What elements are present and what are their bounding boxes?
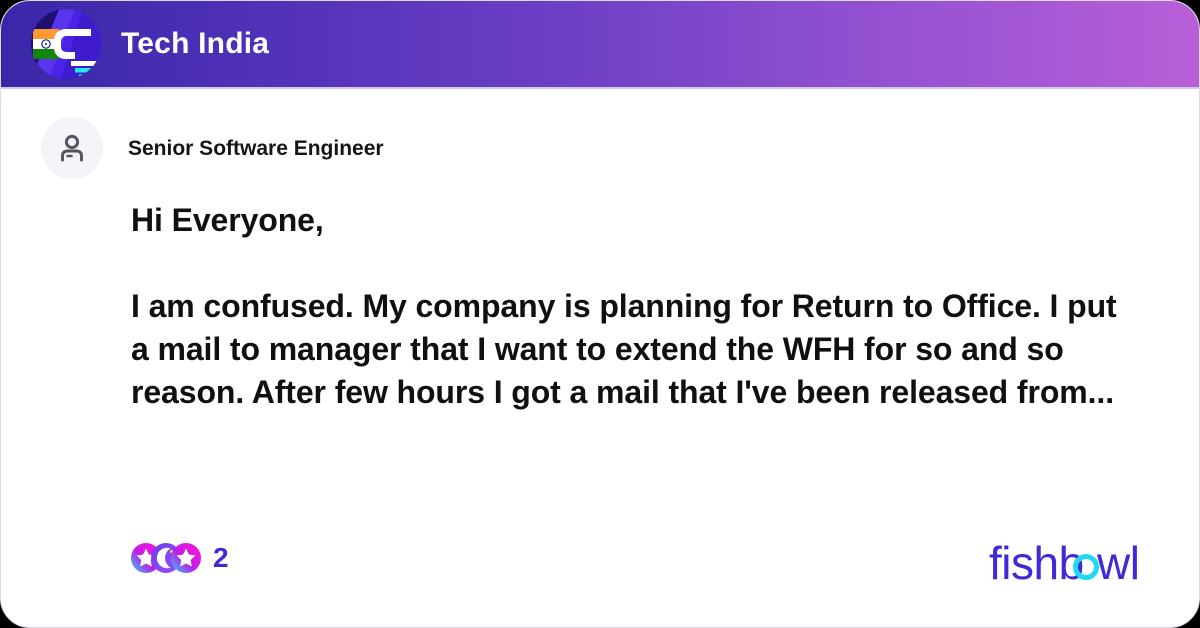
fishbowl-post-card[interactable]: Tech India Senior Software Engineer: [0, 0, 1200, 628]
post-text-greeting: Hi Everyone,: [131, 199, 1143, 242]
screenshot-root: Tech India Senior Software Engineer: [0, 0, 1200, 628]
svg-text:wl: wl: [1096, 537, 1139, 589]
star-reaction-icon[interactable]: [171, 543, 201, 573]
post-text: Hi Everyone, I am confused. My company i…: [131, 199, 1143, 414]
reactions-group[interactable]: 2: [131, 543, 229, 573]
reaction-count: 2: [213, 544, 229, 572]
fishbowl-logo[interactable]: fishbowl fishb wl: [989, 537, 1139, 593]
author-job-title: Senior Software Engineer: [128, 138, 384, 159]
post-text-line-3: reason. After few hours I got a mail tha…: [131, 371, 1143, 414]
post-text-line-1: I am confused. My company is planning fo…: [131, 285, 1143, 328]
post-body-region: Senior Software Engineer Hi Everyone, I …: [1, 89, 1200, 628]
reaction-badge-stack[interactable]: [131, 543, 201, 573]
person-icon: [55, 131, 89, 165]
post-author-row[interactable]: Senior Software Engineer: [41, 117, 384, 179]
post-header[interactable]: Tech India: [1, 1, 1200, 87]
post-text-line-2: a mail to manager that I want to extend …: [131, 328, 1143, 371]
tech-india-circular-logo-icon: [31, 9, 101, 79]
post-footer: 2 fishbowl fishb wl: [1, 529, 1200, 628]
post-text-spacer: [131, 242, 1143, 285]
group-name: Tech India: [121, 29, 269, 59]
svg-text:fishb: fishb: [989, 537, 1084, 589]
avatar: [41, 117, 103, 179]
